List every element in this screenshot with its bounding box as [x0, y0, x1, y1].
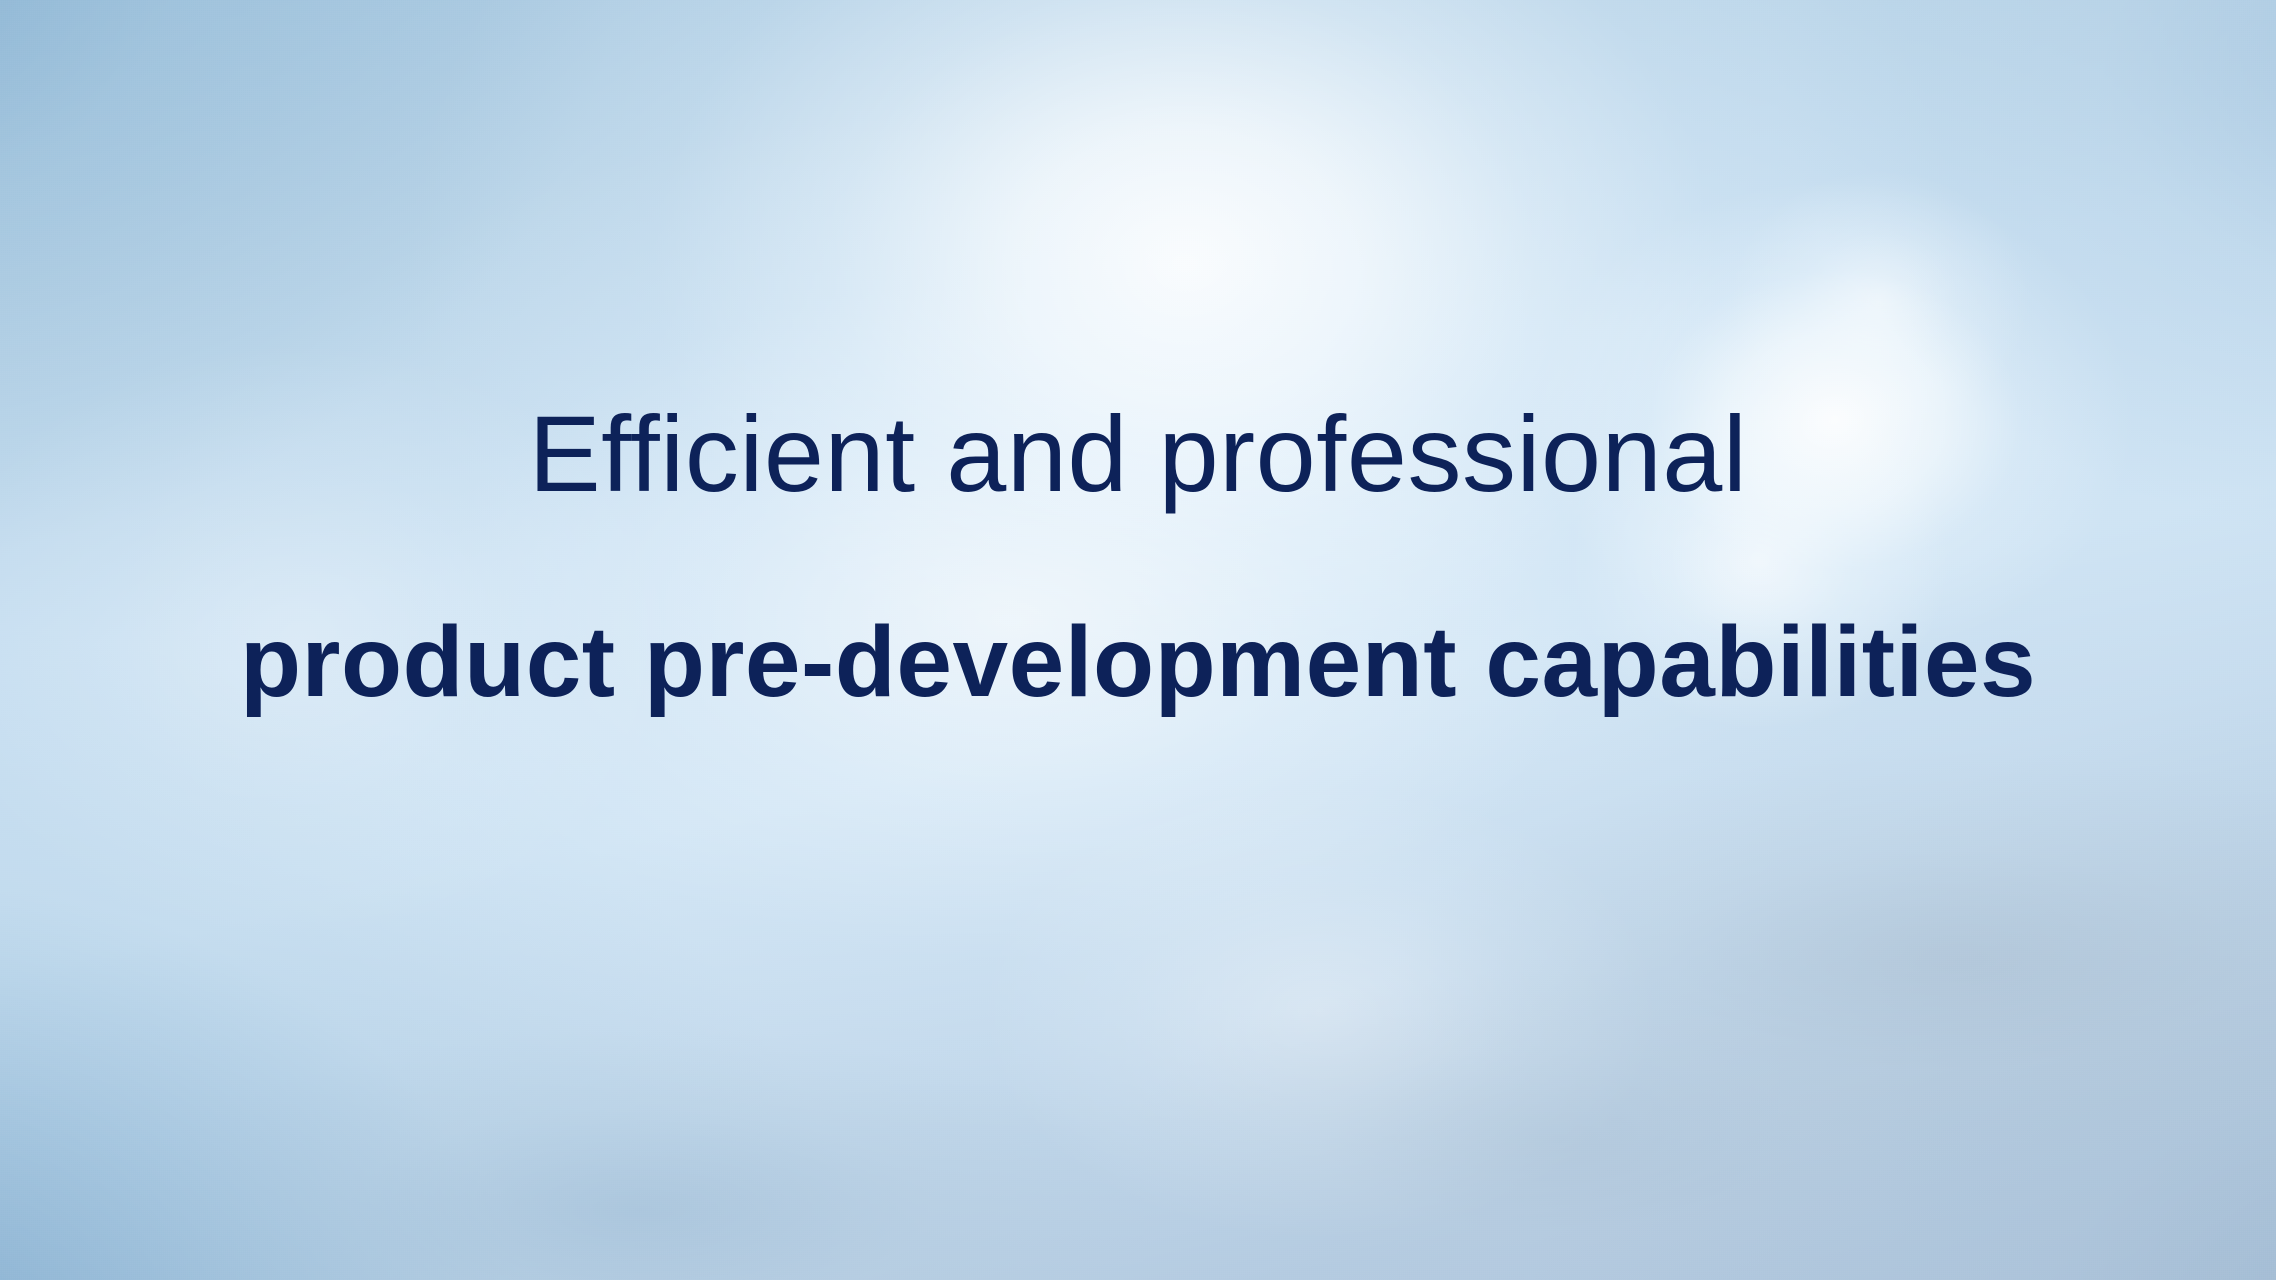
headline-line-2: product pre-development capabilities	[0, 612, 2276, 730]
headline-line-1: Efficient and professional	[0, 400, 2276, 520]
slide-canvas: Efficient and professional product pre-d…	[0, 0, 2276, 1280]
headline-block: Efficient and professional product pre-d…	[0, 400, 2276, 730]
